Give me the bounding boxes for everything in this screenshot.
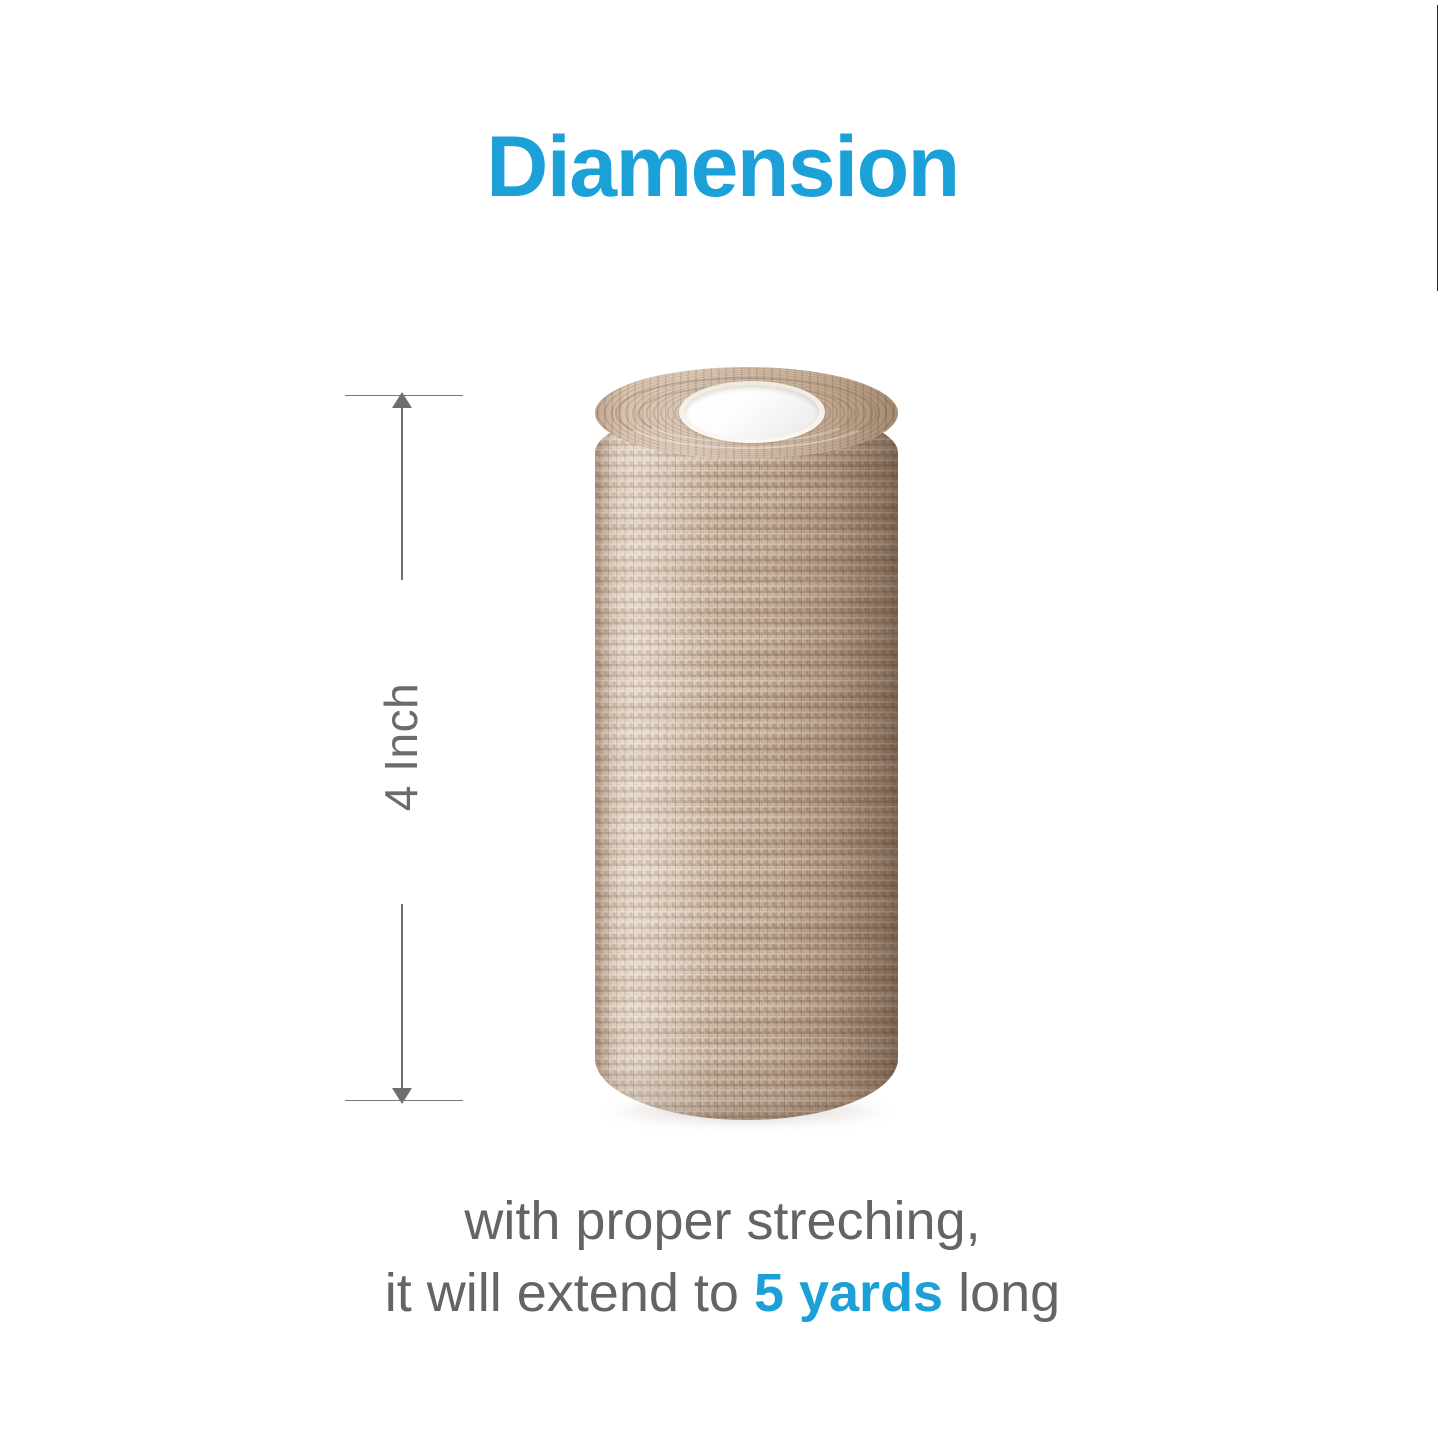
- product-image-bandage-roll: [595, 367, 898, 1120]
- arrow-down-icon: [392, 1088, 412, 1104]
- infographic-canvas: Diamension 4 Inch with proper strechin: [0, 0, 1445, 1445]
- page-title: Diamension: [0, 124, 1445, 210]
- dimension-line-upper: [401, 402, 403, 580]
- roll-core-hole: [685, 385, 819, 439]
- roll-cylinder-body: [595, 407, 898, 1120]
- caption-highlight-length: 5 yards: [754, 1263, 943, 1323]
- caption-line-2-suffix: long: [943, 1263, 1060, 1323]
- dimension-label: 4 Inch: [374, 634, 428, 860]
- caption-line-1: with proper streching,: [0, 1186, 1445, 1258]
- roll-cylinder-shading: [595, 407, 898, 1120]
- product-caption: with proper streching, it will extend to…: [0, 1186, 1445, 1330]
- dimension-tick-bottom: [345, 1100, 463, 1101]
- caption-line-2: it will extend to 5 yards long: [0, 1258, 1445, 1330]
- caption-line-2-prefix: it will extend to: [385, 1263, 754, 1323]
- roll-top-face: [595, 367, 898, 459]
- dimension-line-lower: [401, 904, 403, 1092]
- dimension-annotation: 4 Inch: [340, 386, 470, 1110]
